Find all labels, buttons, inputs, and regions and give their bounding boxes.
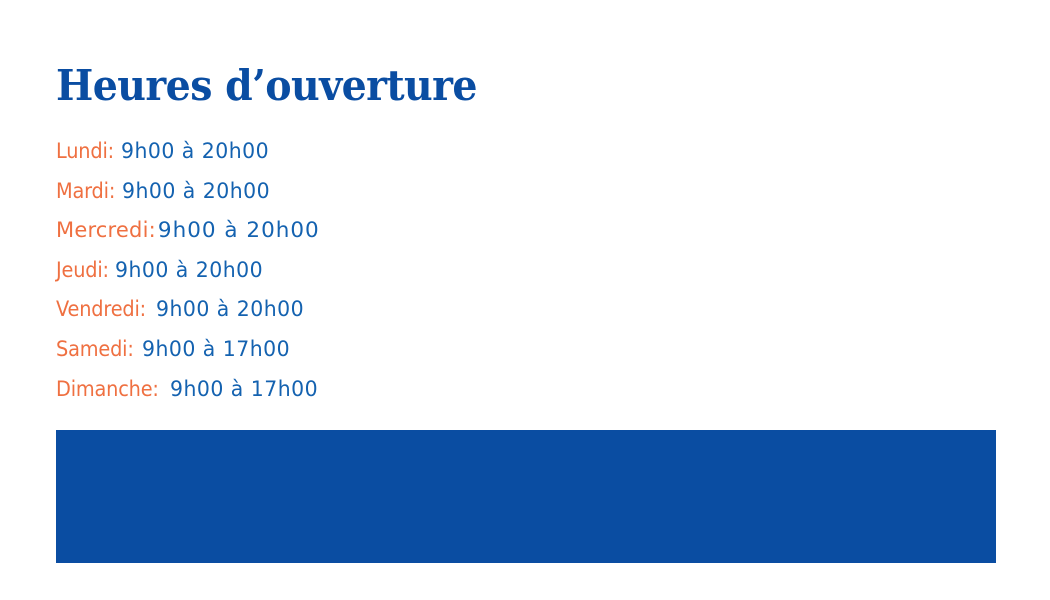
- day-time: 9h00 à 17h00: [170, 370, 318, 410]
- day-label: Dimanche:: [56, 370, 159, 410]
- page-title: Heures d’ouverture: [56, 60, 477, 112]
- day-time: 9h00 à 20h00: [115, 251, 263, 291]
- list-item: Mercredi:9h00 à 20h00: [56, 211, 616, 251]
- day-label: Jeudi:: [56, 251, 109, 291]
- list-item: Jeudi:9h00 à 20h00: [56, 251, 616, 291]
- list-item: Lundi:9h00 à 20h00: [56, 132, 616, 172]
- day-label: Mardi:: [56, 172, 115, 212]
- day-label: Mercredi:: [56, 211, 156, 251]
- day-time: 9h00 à 20h00: [122, 172, 270, 212]
- list-item: Vendredi:9h00 à 20h00: [56, 290, 616, 330]
- opening-hours-list: Lundi:9h00 à 20h00 Mardi:9h00 à 20h00 Me…: [56, 132, 616, 409]
- day-time: 9h00 à 20h00: [156, 290, 304, 330]
- slide-canvas: Heures d’ouverture Lundi:9h00 à 20h00 Ma…: [0, 0, 1050, 600]
- day-label: Vendredi:: [56, 290, 146, 330]
- list-item: Dimanche:9h00 à 17h00: [56, 370, 616, 410]
- blue-content-block: [56, 430, 996, 563]
- day-time: 9h00 à 20h00: [158, 211, 320, 251]
- day-time: 9h00 à 17h00: [142, 330, 290, 370]
- day-time: 9h00 à 20h00: [121, 132, 269, 172]
- list-item: Samedi:9h00 à 17h00: [56, 330, 616, 370]
- day-label: Lundi:: [56, 132, 114, 172]
- day-label: Samedi:: [56, 330, 134, 370]
- list-item: Mardi:9h00 à 20h00: [56, 172, 616, 212]
